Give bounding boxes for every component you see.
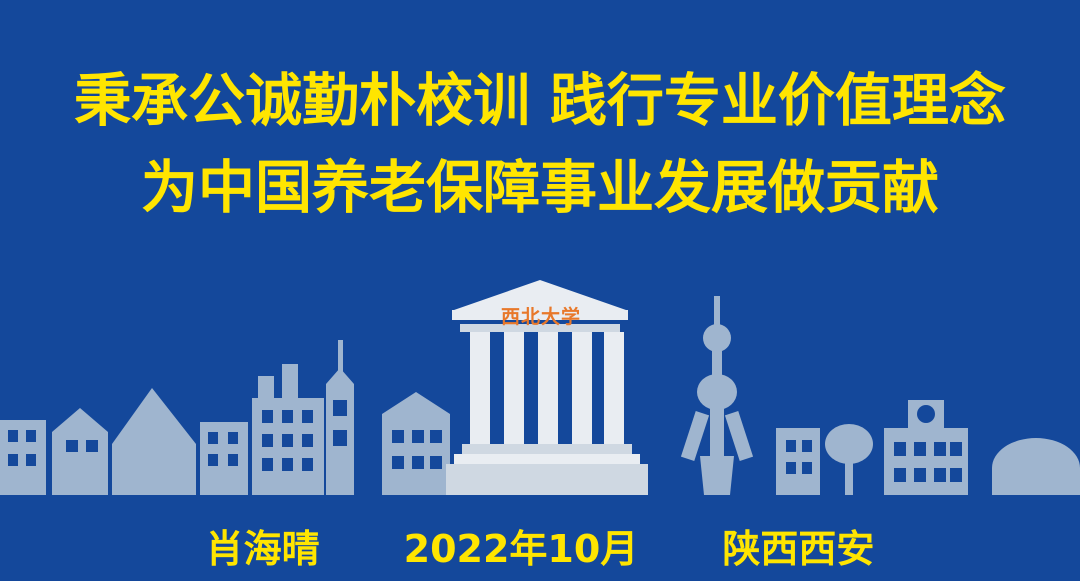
title-line-1: 秉承公诚勤朴校训 践行专业价值理念: [0, 58, 1080, 145]
tower-step-5a: [258, 376, 274, 400]
building-house-2: [52, 408, 108, 495]
building-block-1: [0, 420, 46, 495]
presentation-date: 2022年10月: [404, 527, 639, 573]
skyline-svg: [0, 280, 1080, 495]
temple-building: [446, 280, 648, 495]
presentation-location: 陕西西安: [722, 527, 874, 573]
building-clock-9: [884, 400, 968, 495]
slide-footer: 肖海晴 2022年10月 陕西西安: [0, 527, 1080, 573]
title-line-2: 为中国养老保障事业发展做贡献: [0, 145, 1080, 232]
presentation-slide: 秉承公诚勤朴校训 践行专业价值理念 为中国养老保障事业发展做贡献: [0, 0, 1080, 581]
tower-step-5b: [282, 364, 298, 400]
building-8: [776, 428, 820, 495]
tree: [825, 424, 873, 495]
building-block-4: [200, 422, 248, 495]
slide-title: 秉承公诚勤朴校训 践行专业价值理念 为中国养老保障事业发展做贡献: [0, 58, 1080, 231]
building-peak-3: [112, 388, 196, 495]
presenter-name: 肖海晴: [206, 527, 320, 573]
city-skyline-silhouette: [0, 280, 1080, 495]
building-dome-10: [992, 438, 1080, 495]
tv-tower: [681, 296, 753, 495]
building-7: [382, 392, 450, 495]
